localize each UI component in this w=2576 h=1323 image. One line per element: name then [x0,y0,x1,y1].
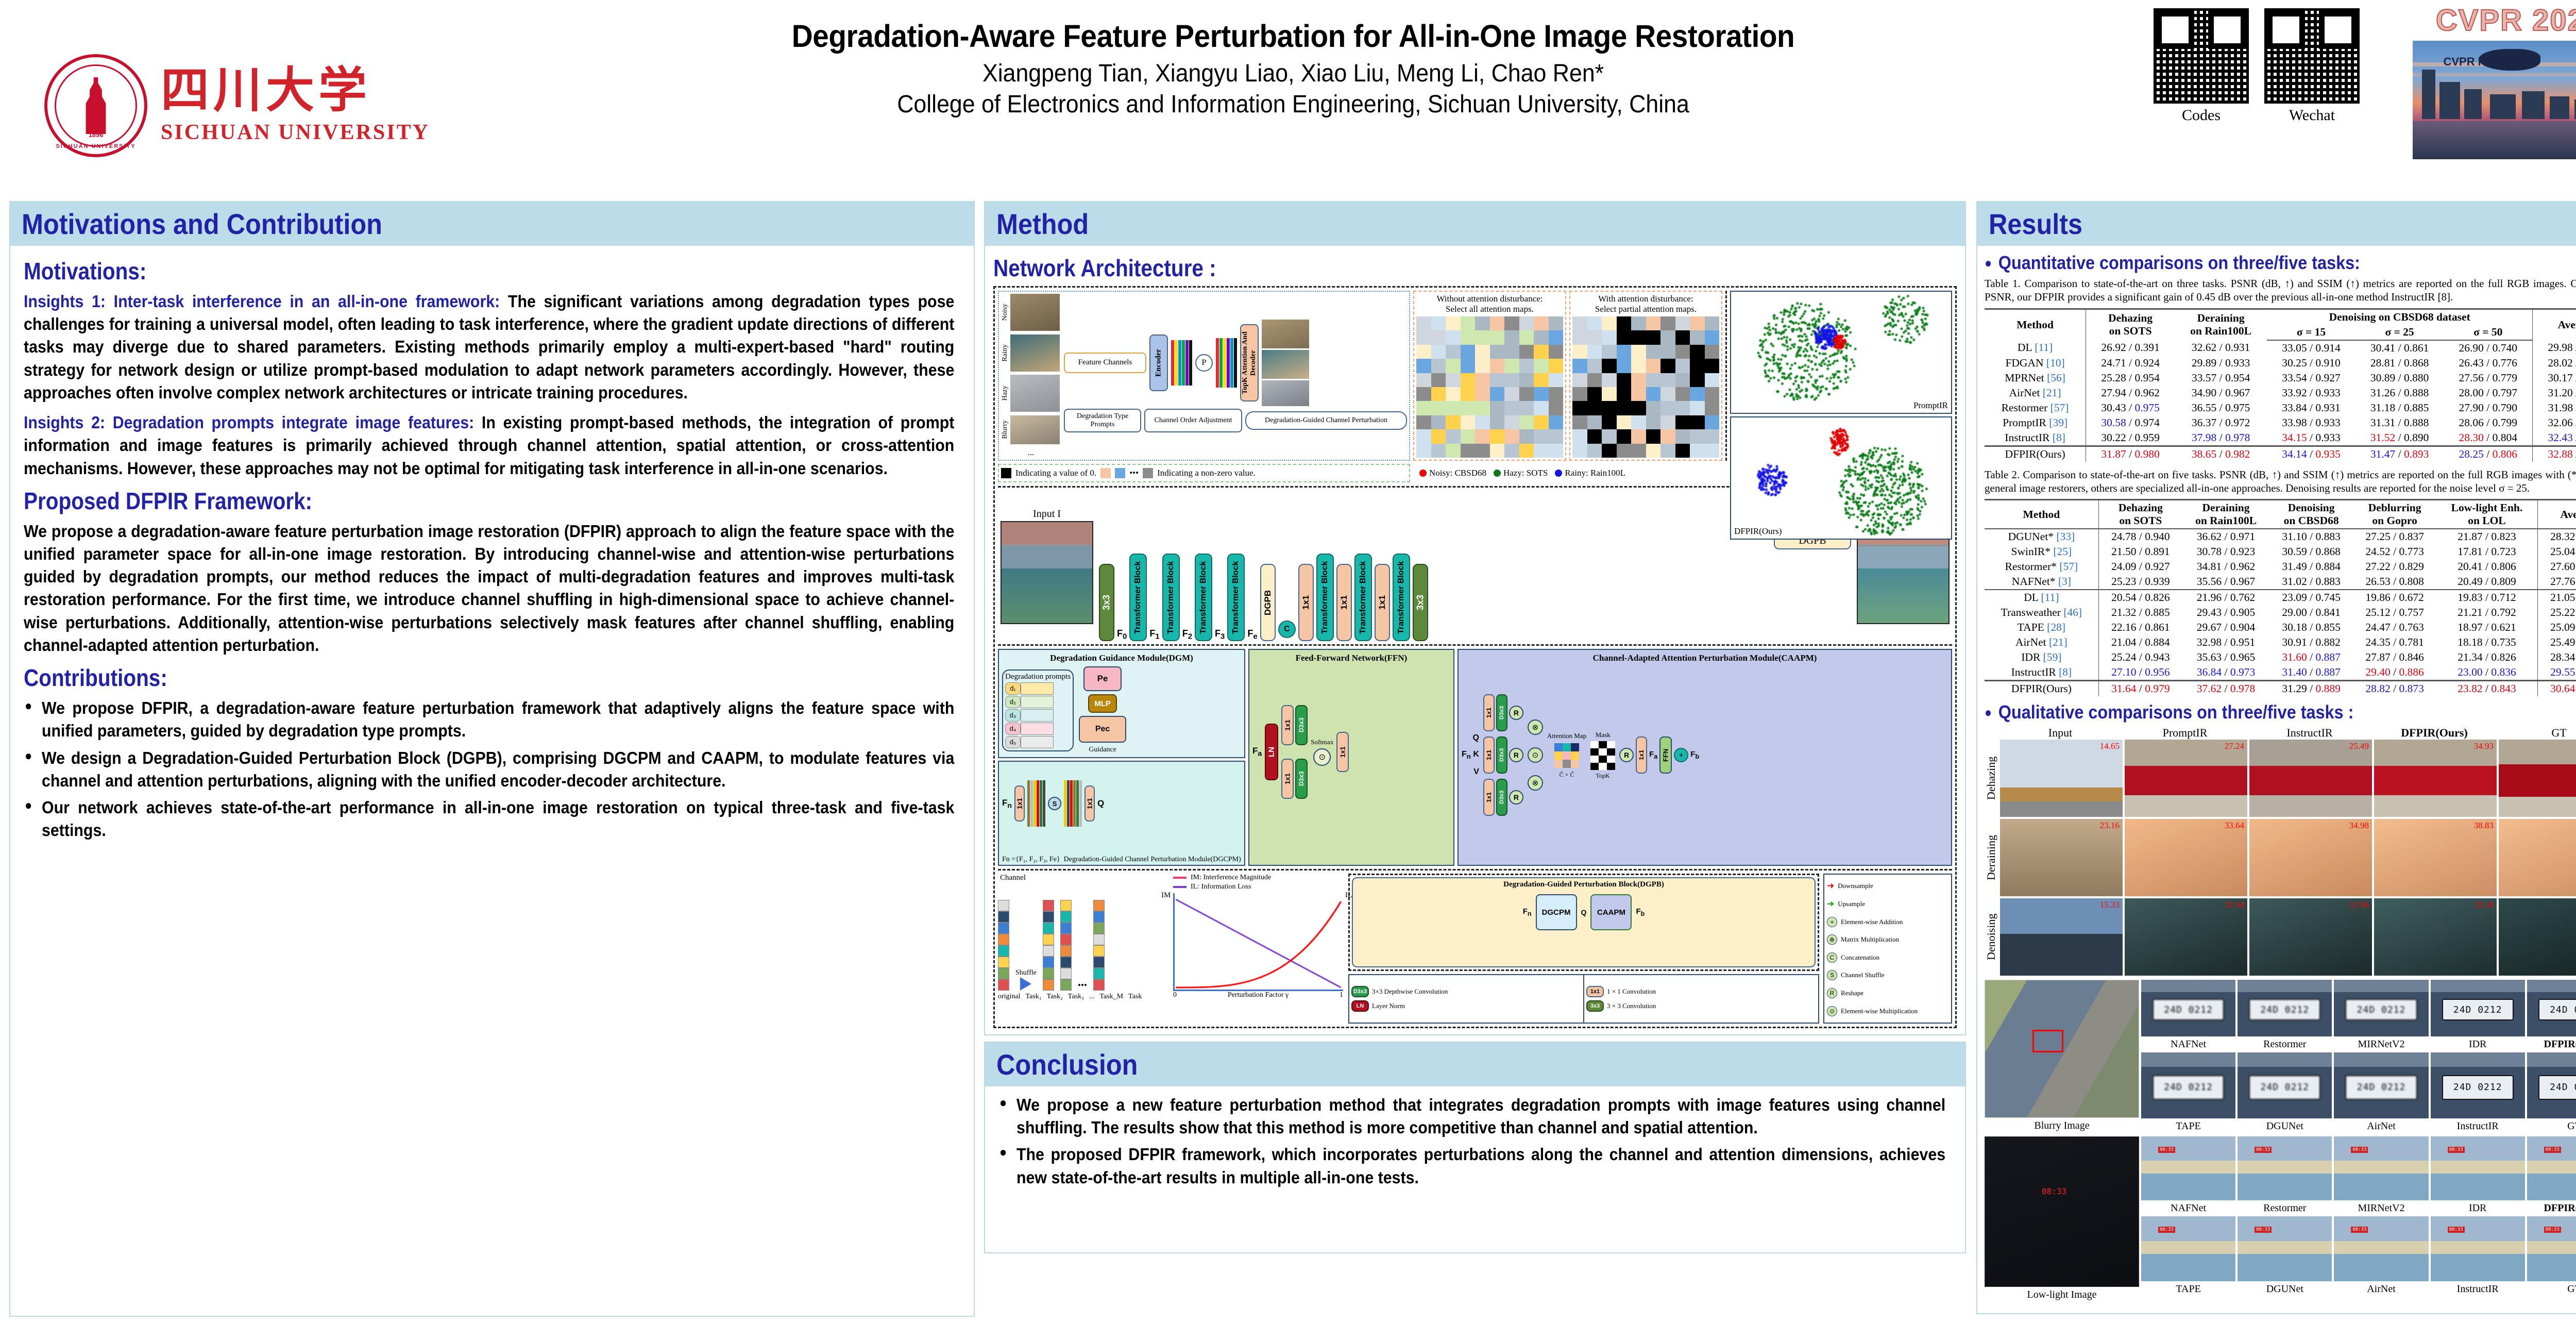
channel-axis-label: Channel [1000,874,1026,882]
license-plate-text: 24D 0212 [2345,999,2417,1020]
prompt-d5: d₅ [1005,736,1021,748]
author-list: Xiangpeng Tian, Xiangyu Liao, Xiao Liu, … [531,59,2055,89]
attention-cell [1475,359,1490,373]
license-plate-text: 24D 0212 [2249,999,2320,1020]
attention-cell [1631,316,1646,330]
table-cell-method: AirNet [21] [1985,386,2086,400]
attention-cell [1475,444,1490,458]
table-cell: 28.32 / 0.891 [2537,529,2576,544]
bullet-dot-icon: ● [1985,705,1992,721]
qual-image-cell: PSNR [2499,740,2576,817]
table-cell: 36.55 / 0.975 [2175,400,2267,415]
attention-cell [1587,316,1602,330]
lowlight-lbl-restormer: Restormer [2238,1202,2332,1214]
table-cell: 36.84 / 0.973 [2182,665,2269,681]
table-cell: 31.18 / 0.885 [2355,400,2444,415]
caapm-v-label: V [1462,767,1479,777]
attention-cell [1602,415,1617,429]
fig-bottom-row: Channel [998,869,1952,1024]
attention-cell [1602,444,1617,458]
panel-body-results: ● Quantitative comparisons on three/five… [1977,246,2576,1305]
panel-title-results: Results [1989,207,2554,241]
th-dehazing: Dehazingon SOTS [2086,309,2175,340]
attention-cell [1519,345,1534,359]
table-cell: 36.62 / 0.971 [2182,529,2269,544]
with-disturbance-panel: With attention disturbance: Select parti… [1569,291,1722,461]
table-cell: 28.82 / 0.873 [2353,681,2436,697]
qual-column-headers: Input PromptIR InstructIR DFPIR(Ours) GT [1998,726,2576,740]
attention-cell [1461,444,1476,458]
table-cell: 29.98 / 0.875 [2533,340,2576,356]
perturbation-node-p: P [1195,354,1213,372]
attention-cell [1446,415,1461,429]
attention-cell [1534,330,1549,344]
qual-image-cell: 34.98 [2249,819,2372,896]
legend-label-ln: Layer Norm [1372,1002,1405,1010]
table-cell: 34.15 / 0.933 [2267,430,2355,446]
cvpr-title: CVPR 2025 [2401,3,2576,38]
legend-label-3x3: 3 × 3 Convolution [1607,1002,1656,1010]
ffn-softmax-label: Softmax [1311,738,1333,746]
qual-image-cell: 31.96 [2249,898,2372,976]
table-cell-method: SwinIR* [25] [1985,544,2098,559]
attention-cell [1617,429,1632,443]
attention-cell [1534,359,1549,373]
deblur-lbl-restormer: Restormer [2238,1039,2332,1050]
wechat-qr-label: Wechat [2264,107,2360,124]
legend-tag-1x1: 1x1 [1586,986,1604,997]
pec-box: Pec [1079,716,1126,743]
fn-set-label: Fn ={F₁, F₂, F₃, Fe} [1002,856,1060,863]
qual-rows-container: Dehazing14.6527.2425.4934.93PSNRDerainin… [1985,740,2576,976]
psnr-label: 34.93 [2474,741,2494,751]
pool-clock-text: 08:33 [2158,1147,2175,1153]
panel-title-motivations: Motivations and Contribution [22,207,868,241]
table-cell-method: InstructIR [8] [1985,665,2098,681]
pool-clock-text: 08:33 [2255,1147,2272,1153]
table-row: InstructIR [8]30.22 / 0.95937.98 / 0.978… [1985,430,2576,446]
lowlight-row-2-labels: TAPE DGUNet AirNet InstructIR GT [2141,1283,2576,1295]
thumb-rainy [1010,334,1060,372]
shuffle-original-label: original [998,993,1021,1001]
table-cell: 31.47 / 0.893 [2355,446,2444,462]
lowlight-block: 08:33 Low-light Image 08:3308:33 08:3308… [1985,1136,2576,1301]
attention-cell [1446,387,1461,401]
table-cell: 24.78 / 0.940 [2098,529,2182,544]
attention-cell [1572,373,1587,387]
university-logo: 1896 SICHUAN UNIVERSITY 四川大学 SICHUAN UNI… [0,0,474,196]
attention-cell [1431,444,1446,458]
qual-image-cell: 34.93 [2374,740,2497,817]
pool-clock-text: 08:33 [2544,1227,2561,1233]
attention-cell [1675,316,1690,330]
deblur-lbl-airnet: AirNet [2334,1120,2428,1132]
table-cell: 33.05 / 0.914 [2267,340,2355,356]
attention-map-label: Attention Map [1547,732,1586,740]
table-row: FDGAN [10]24.71 / 0.92429.89 / 0.93330.2… [1985,356,2576,371]
table-cell: 25.23 / 0.939 [2098,574,2182,590]
attention-cell [1446,345,1461,359]
table-cell: 21.50 / 0.891 [2098,544,2182,559]
license-plate-text: 24D 0212 [2249,1075,2320,1100]
column-motivations: Motivations and Contribution Motivations… [9,201,975,1323]
table-cell: 30.64 / 0.913 [2537,681,2576,697]
attention-cell [1446,444,1461,458]
license-plate-text: 24D 0212 [2442,999,2514,1020]
qual-image-cell: 23.16 [2000,819,2123,896]
table-cell: 31.98 / 0.911 [2533,400,2576,415]
insight-1-paragraph: Insights 1: Inter-task interference in a… [24,290,954,404]
deblur-row-2-labels: TAPE DGUNet AirNet InstructIR GT [2141,1120,2576,1132]
attention-cell [1446,429,1461,443]
th-sigma50: σ = 50 [2444,325,2532,340]
with-disturbance-line2: Select partial attention maps. [1572,304,1719,314]
attention-cell [1490,429,1505,443]
table-cell: 21.21 / 0.792 [2436,605,2537,620]
attention-cell [1416,345,1431,359]
table-row: DFPIR(Ours)31.64 / 0.97937.62 / 0.97831.… [1985,681,2576,697]
legend-tag-d3x3: D3x3 [1351,986,1369,997]
table-row: Transweather [46]21.32 / 0.88529.43 / 0.… [1985,605,2576,620]
shuffle-taskm-label: Task_M [1099,993,1123,1001]
attention-cell [1690,345,1705,359]
attention-cell [1705,401,1720,415]
codes-qr-icon[interactable] [2154,8,2249,104]
qual-col-gt: GT [2497,726,2576,740]
panel-header-conclusion: Conclusion [985,1043,1965,1086]
reshape-node: R [1509,706,1523,720]
prompt-d2: d₂ [1005,696,1021,708]
motivations-heading: Motivations: [24,257,848,285]
table-cell: 23.00 / 0.836 [2436,665,2537,681]
codes-qr-item[interactable]: Codes [2154,8,2249,124]
table-cell: 29.67 / 0.904 [2182,620,2269,635]
attention-cell [1490,387,1505,401]
channel-order-adjustment-legend: Channel Order Adjustment [1144,409,1242,432]
attention-cell [1431,387,1446,401]
conclusion-list: We propose a new feature perturbation me… [998,1094,1952,1189]
insight-2-label: Insights 2: Degradation prompts integrat… [24,413,474,432]
qual-col-input: Input [1998,726,2123,740]
panel-conclusion: Conclusion We propose a new feature pert… [984,1042,1966,1253]
im-axis-label: IM [1161,891,1171,900]
qual-row-label: Deraining [1985,819,1998,896]
tsne-dfpir-label: DFPIR(Ours) [1734,526,1782,537]
dgpb-caapm: CAAPM [1590,894,1632,930]
qual-three-task-block: Input PromptIR InstructIR DFPIR(Ours) GT [1985,726,2576,740]
wechat-qr-icon[interactable] [2264,8,2360,104]
attention-cell [1549,373,1564,387]
fig-modules-row: Degradation Guidance Module(DGM) Degrada… [998,644,1952,866]
table-cell: 28.00 / 0.797 [2444,386,2532,400]
attention-cell [1416,373,1431,387]
conv1x1-a: 1x1 [1298,564,1314,641]
attention-cell [1504,415,1519,429]
attention-cell [1431,415,1446,429]
attention-cell [1446,330,1461,344]
attention-cell [1534,401,1549,415]
lowlight-lbl-dfpir: DFPIR(Ours) [2527,1202,2576,1214]
table-cell: 37.98 / 0.978 [2175,430,2267,446]
label-rainy: Rainy [1001,344,1009,361]
figure-network-architecture: Noisy Rainy Hazy [993,286,1957,1028]
table-cell-method: Transweather [46] [1985,605,2098,620]
transformer-block: Transformer Block [1354,554,1372,641]
attention-cell [1587,330,1602,344]
table-cell: 34.90 / 0.967 [2175,386,2267,400]
transformer-block: Transformer Block [1162,554,1180,641]
legend-op-shuffle: Channel Shuffle [1841,971,1885,979]
table-cell: 27.56 / 0.779 [2444,371,2532,386]
pe-box: Pe [1083,666,1122,691]
lowlight-lbl-idr: IDR [2431,1202,2525,1214]
table-cell: 33.92 / 0.933 [2267,386,2355,400]
attention-cell [1519,359,1534,373]
attention-cell [1675,330,1690,344]
attention-cell [1675,359,1690,373]
transformer-block: Transformer Block [1227,554,1245,641]
table-cell: 31.64 / 0.979 [2098,681,2182,697]
table-row: TAPE [28]22.16 / 0.86129.67 / 0.90430.18… [1985,620,2576,635]
legend-op-matmul: Matrix Multiplication [1841,935,1899,944]
lowlight-lbl-mirnetv2: MIRNetV2 [2334,1202,2428,1214]
pool-clock-text: 08:33 [2255,1227,2272,1233]
table-cell: 26.90 / 0.740 [2444,340,2532,356]
fig-attention-maps: Without attention disturbance: Select al… [1413,291,1722,461]
topk-decoder-box: TopK Attention And Decoder [1240,324,1259,401]
shuffle-task3-label: Task₃ [1068,993,1084,1001]
qual-image-cell: 32.18 [2374,898,2497,976]
attention-cell [1504,429,1519,443]
table-cell: 36.37 / 0.972 [2175,415,2267,430]
attention-cell [1549,359,1564,373]
table-cell-method: IDR [59] [1985,650,2098,665]
legend-op-add: Element-wise Addition [1841,918,1903,926]
transformer-block: Transformer Block [1129,554,1147,641]
attention-cell [1534,444,1549,458]
table-cell: 24.52 / 0.773 [2353,544,2436,559]
deblur-lbl-instructir: InstructIR [2431,1120,2525,1132]
attention-cell [1431,401,1446,415]
table-cell: 28.34 / 0.893 [2537,650,2576,665]
attention-cell [1549,415,1564,429]
table-cell: 38.65 / 0.982 [2175,446,2267,462]
attention-cell [1475,345,1490,359]
bullet-dot-icon: ● [1985,255,1992,271]
attention-cell [1504,387,1519,401]
shuffle-node: S [1048,797,1061,810]
deblur-input-label: Blurry Image [1985,1120,2139,1132]
license-plate-text: 24D 0212 [2345,1075,2417,1100]
panel-body-conclusion: We propose a new feature perturbation me… [985,1086,1965,1252]
attention-cell [1705,387,1720,401]
attention-cell [1572,330,1587,344]
th-col-0: Method [1985,500,2098,529]
attention-cell [1660,429,1675,443]
attention-cell [1475,401,1490,415]
contribution-item: We design a Degradation-Guided Perturbat… [24,747,954,792]
attention-cell [1602,345,1617,359]
qual-row-label: Denoising [1985,898,1998,976]
attention-cell [1504,401,1519,415]
lowlight-lbl-dgunet: DGUNet [2238,1283,2332,1295]
table-row: MPRNet [56]25.28 / 0.95433.57 / 0.95433.… [1985,371,2576,386]
conv3x3-out: 3x3 [1413,564,1428,641]
table-cell: 31.29 / 0.889 [2269,681,2353,697]
degradation-type-prompts-box: Degradation Type Prompts [1064,409,1141,432]
panel-results: Results ● Quantitative comparisons on th… [1976,201,2576,1314]
table-cell: 32.62 / 0.931 [2175,340,2267,356]
tsne-promptir: PromptIR [1730,291,1952,414]
attention-cell [1587,401,1602,415]
attention-cell [1646,401,1661,415]
attention-cell [1549,345,1564,359]
attention-cell [1475,387,1490,401]
caapm-k-label: K [1473,750,1479,759]
table-cell: 18.97 / 0.621 [2436,620,2537,635]
table-cell: 31.26 / 0.888 [2355,386,2444,400]
attention-cell [1572,316,1587,330]
lowlight-input-label: Low-light Image [1985,1289,2139,1301]
guidance-label: Guidance [1089,746,1116,754]
attention-cell [1675,401,1690,415]
table-cell-method: AirNet [21] [1985,635,2098,650]
seal-tower-icon [82,77,110,134]
attention-cell [1461,359,1476,373]
prompt-d4: d₄ [1005,723,1021,735]
attention-cell [1549,330,1564,344]
attention-cell [1646,415,1661,429]
table-cell-method: NAFNet* [3] [1985,574,2098,590]
psnr-label: 14.65 [2100,741,2120,751]
attention-cell [1646,316,1661,330]
reshape-node: R [1509,748,1523,762]
wechat-qr-item[interactable]: Wechat [2264,8,2360,124]
attention-cell [1675,444,1690,458]
deblur-lbl-dgunet: DGUNet [2238,1120,2332,1132]
conv1x1-b: 1x1 [1336,564,1352,641]
th-col-6: Average [2537,500,2576,529]
table-cell-method: DFPIR(Ours) [1985,681,2098,697]
x-max-label: 1 [1340,991,1343,999]
table-cell: 21.96 / 0.762 [2182,590,2269,605]
table-cell: 25.49 / 0.846 [2537,635,2576,650]
legend-op-concat: Concatenation [1841,953,1879,962]
attention-cell [1705,359,1720,373]
insight-1-label: Insights 1: Inter-task interference in a… [24,292,500,311]
table-row: DL [11]26.92 / 0.39132.62 / 0.93133.05 /… [1985,340,2576,356]
dgm-title: Degradation Guidance Module(DGM) [1002,653,1241,663]
lowlight-row-2: 08:3308:33 08:3308:33 08:33 [2141,1216,2576,1281]
th-sigma15: σ = 15 [2267,325,2355,340]
attention-cell [1617,373,1632,387]
th-col-3: Denoisingon CBSD68 [2269,500,2353,529]
attention-cell [1690,401,1705,415]
table-row: AirNet [21]27.94 / 0.96234.90 / 0.96733.… [1985,386,2576,400]
table-cell: 32.88 / 0.919 [2533,446,2576,462]
deblur-row-1: 24D 021224D 0212 24D 021224D 0212 24D 02… [2141,980,2576,1036]
table-cell: 37.62 / 0.978 [2182,681,2269,697]
table-cell: 33.57 / 0.954 [2175,371,2267,386]
deblur-lbl-mirnetv2: MIRNetV2 [2334,1039,2428,1050]
table-cell: 31.87 / 0.980 [2086,446,2175,462]
cvpr-banner: CVPR 2025 CVPR Nashville [2401,0,2576,159]
lowlight-lbl-nafnet: NAFNet [2141,1202,2235,1214]
table-cell: 31.49 / 0.884 [2269,559,2353,574]
attention-cell [1461,345,1476,359]
attention-cell [1587,444,1602,458]
page-title: Degradation-Aware Feature Perturbation f… [531,19,2055,54]
attention-cell [1631,429,1646,443]
mlp-box: MLP [1088,694,1117,713]
table-cell: 28.25 / 0.806 [2444,446,2532,462]
caapm-q-label: Q [1462,733,1479,743]
degradation-prompts-label: Degradation prompts [1005,673,1071,681]
attention-cell [1587,373,1602,387]
attention-cell [1461,316,1476,330]
attention-cell [1475,415,1490,429]
tsne-dfpir: DFPIR(Ours) [1730,416,1952,540]
legend-op-downsample: Downsample [1838,882,1873,890]
deblur-lbl-nafnet: NAFNet [2141,1039,2235,1050]
qual-image-cell: 33.64 [2125,819,2247,896]
panel-method: Method Network Architecture : Noisy [984,201,1966,1035]
attention-cell [1660,415,1675,429]
attention-cell [1549,401,1564,415]
with-disturbance-line1: With attention disturbance: [1572,294,1719,304]
lowlight-clock-text: 08:33 [2042,1186,2066,1196]
attention-cell [1475,330,1490,344]
attention-cell [1675,373,1690,387]
qual-col-dfpir: DFPIR(Ours) [2372,726,2497,740]
table-cell: 23.82 / 0.843 [2436,681,2537,697]
quantitative-heading-text: Quantitative comparisons on three/five t… [1998,252,2360,274]
table-row: InstructIR [8]27.10 / 0.95636.84 / 0.973… [1985,665,2576,681]
attention-cell [1534,387,1549,401]
attention-cell [1461,415,1476,429]
topk-label: TopK [1596,772,1610,780]
table-row: Restormer* [57]24.09 / 0.92734.81 / 0.96… [1985,559,2576,574]
attention-cell [1461,401,1476,415]
attention-cell [1534,316,1549,330]
attention-cell [1549,387,1564,401]
table-cell: 20.54 / 0.826 [2098,590,2182,605]
attention-cell [1660,330,1675,344]
legend-op-upsample: Upsample [1838,900,1865,908]
concat-node: C [1278,621,1296,638]
table-row: AirNet [21]21.04 / 0.88432.98 / 0.95130.… [1985,635,2576,650]
legend-label-d3x3: 3×3 Depthwise Convolution [1372,987,1448,996]
x-min-label: 0 [1173,991,1177,999]
qual-col-instructir: InstructIR [2247,726,2372,740]
attention-cell [1675,345,1690,359]
module-dgcpm: Fn 1x1 S [998,761,1245,866]
conv3x3-in: 3x3 [1099,564,1114,641]
attention-cell [1475,373,1490,387]
mask-label: Mask [1596,731,1611,739]
license-plate-text: 24D 0212 [2442,1075,2514,1100]
table-cell: 28.02 / 0.883 [2533,356,2576,371]
table-cell: 32.43 / 0.913 [2533,430,2576,446]
psnr-label: 23.16 [2100,820,2120,831]
table-cell: 30.43 / 0.975 [2086,400,2175,415]
attention-cell [1519,330,1534,344]
attention-cell [1416,401,1431,415]
title-block: Degradation-Aware Feature Perturbation f… [474,0,2112,120]
framework-paragraph: We propose a degradation-aware feature p… [24,520,954,657]
affiliation: College of Electronics and Information E… [531,90,2055,120]
deblur-block: Blurry Image 24D 021224D 0212 24D 021224… [1985,980,2576,1132]
